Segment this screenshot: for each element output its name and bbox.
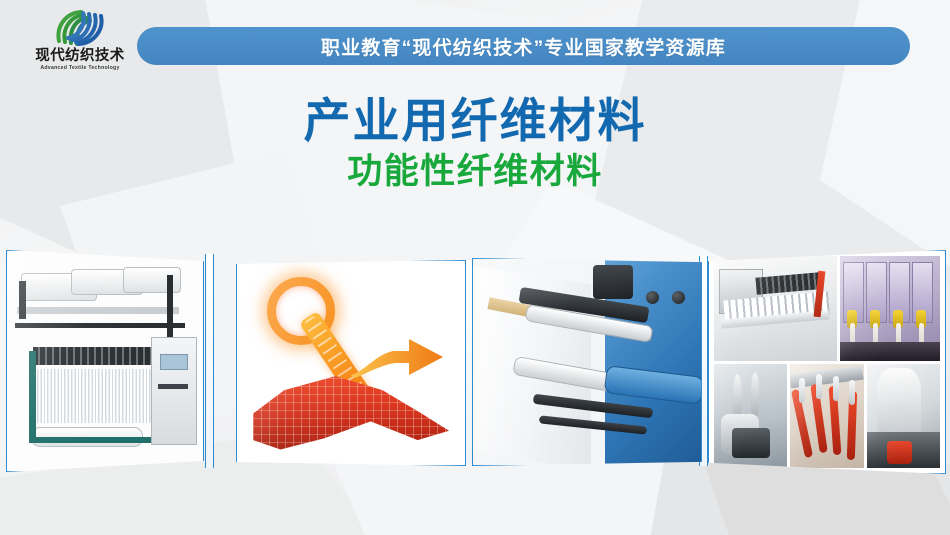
image-panel-production-collage[interactable] <box>708 250 946 474</box>
page-subtitle: 功能性纤维材料 <box>0 150 950 194</box>
title-block: 产业用纤维材料 功能性纤维材料 <box>0 92 950 194</box>
deflection-arrow-icon <box>349 335 445 379</box>
collage-cell-white-roller <box>867 364 940 469</box>
panel-photo-warp-knitting-machine <box>7 251 203 471</box>
collage-cell-violet-modules <box>840 256 940 361</box>
slide-header: 现代纺织技术 Advanced Textile Technology 职业教育“… <box>0 0 950 90</box>
image-strip <box>0 248 950 480</box>
header-banner-text: 职业教育“现代纺织技术”专业国家教学资源库 <box>321 33 726 60</box>
panel-photo-collage <box>709 251 945 473</box>
image-panel-warp-knitting-machine[interactable] <box>6 250 204 472</box>
image-panel-nonwoven-finishing-machine[interactable] <box>472 258 702 466</box>
panel-connector <box>205 254 214 468</box>
page-title: 产业用纤维材料 <box>0 92 950 150</box>
image-panel-functional-fabric-diagram[interactable] <box>236 260 466 466</box>
globe-stripes-icon <box>50 8 110 48</box>
brand-logo: 现代纺织技术 Advanced Textile Technology <box>26 8 134 74</box>
slide-root: 现代纺织技术 Advanced Textile Technology 职业教育“… <box>0 0 950 535</box>
panel-illustration-uv-heat-shield <box>237 261 465 465</box>
logo-english-name: Advanced Textile Technology <box>26 64 134 72</box>
logo-chinese-name: 现代纺织技术 <box>26 49 134 64</box>
collage-cell-spinning-frame <box>714 256 837 361</box>
header-banner: 职业教育“现代纺织技术”专业国家教学资源库 <box>137 27 910 65</box>
collage-cell-red-machinery <box>790 364 863 469</box>
collage-cell-gray-machine <box>714 364 787 469</box>
panel-photo-nonwoven-machine <box>473 259 701 465</box>
